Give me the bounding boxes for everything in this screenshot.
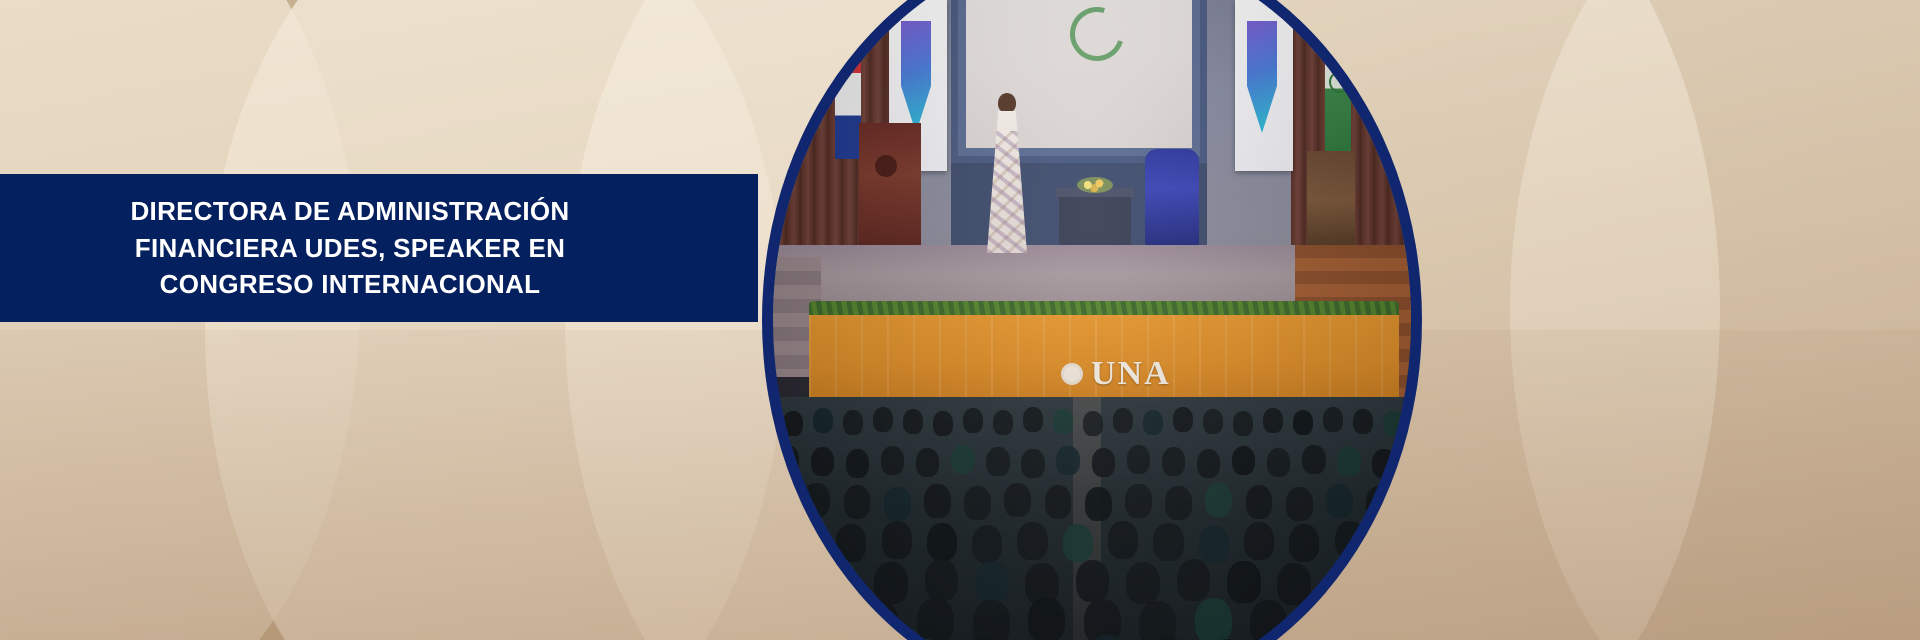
headline-bar: DIRECTORA DE ADMINISTRACIÓN FINANCIERA U… [0, 174, 758, 322]
audience-head [1417, 601, 1422, 640]
audience-head [1203, 409, 1223, 434]
audience-head [933, 411, 953, 436]
audience-head [1390, 635, 1422, 640]
stage-table [1059, 191, 1131, 249]
audience-head [1383, 411, 1403, 436]
audience-head [1023, 407, 1043, 432]
audience-head [1143, 410, 1163, 435]
audience-head [1233, 411, 1253, 436]
audience-head [813, 408, 833, 433]
audience-head [1232, 446, 1255, 475]
audience-head [811, 447, 834, 476]
audience-head [993, 410, 1013, 435]
event-photo: UNA [762, 0, 1422, 640]
audience-head [1173, 407, 1193, 432]
institution-flag-icon [1325, 31, 1351, 159]
audience-head [843, 410, 863, 435]
audience-head [1293, 410, 1313, 435]
audience-head [1087, 635, 1127, 640]
audience-head [881, 446, 904, 475]
una-wordmark: UNA [1091, 355, 1171, 393]
rollup-logo-icon [901, 21, 931, 133]
podium-right [1307, 151, 1355, 251]
stage-armchair [1145, 149, 1199, 247]
audience-head [1353, 409, 1373, 434]
audience-head [1407, 446, 1422, 475]
audience-head [1268, 636, 1308, 640]
audience-head [951, 445, 974, 474]
audience-row [762, 625, 1422, 640]
rollup-logo-icon [1247, 21, 1277, 133]
una-branding: UNA [1061, 355, 1171, 393]
audience-head [965, 636, 1005, 640]
audience-head [986, 447, 1009, 476]
audience-head [873, 407, 893, 432]
speaker-person [985, 93, 1029, 253]
news-banner: DIRECTORA DE ADMINISTRACIÓN FINANCIERA U… [0, 0, 1920, 640]
audience-head [1413, 408, 1422, 433]
audience-head [963, 408, 983, 433]
audience-head [1113, 408, 1133, 433]
audience-head [1162, 447, 1185, 476]
page-title: DIRECTORA DE ADMINISTRACIÓN FINANCIERA U… [130, 193, 569, 304]
audience-head [903, 409, 923, 434]
audience-head [784, 635, 824, 640]
podium-left [859, 123, 921, 251]
audience-head [1263, 408, 1283, 433]
speaker-head [998, 93, 1016, 113]
audience-seating [773, 397, 1411, 640]
speaker-dress [987, 111, 1027, 253]
banner-rollup-right [1235, 0, 1293, 171]
audience-head [776, 445, 799, 474]
audience-head [1083, 411, 1103, 436]
audience-head [1302, 445, 1325, 474]
audience-rows [773, 397, 1411, 640]
audience-head [783, 411, 803, 436]
audience-head [1127, 445, 1150, 474]
audience-head [762, 448, 764, 477]
una-seal-icon [1061, 363, 1083, 385]
slide-logo-icon [1060, 0, 1133, 70]
paraguay-flag-icon [835, 31, 861, 159]
audience-head [1056, 446, 1079, 475]
flower-arrangement [1077, 177, 1113, 193]
audience-head [1323, 407, 1343, 432]
background-ellipse-5 [1510, 0, 1920, 640]
audience-head [762, 409, 773, 434]
audience-head [1053, 409, 1073, 434]
audience-head [1337, 447, 1360, 476]
